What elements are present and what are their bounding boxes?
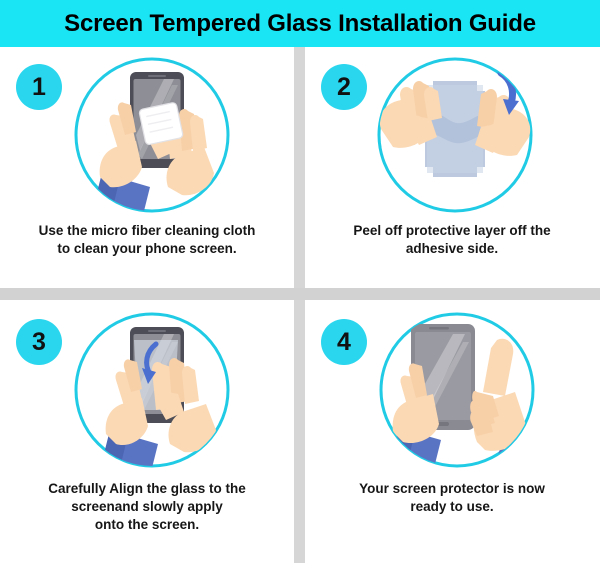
step-caption-2: Peel off protective layer off the adhesi… <box>315 222 589 258</box>
step-caption-1: Use the micro fiber cleaning cloth to cl… <box>10 222 284 258</box>
step-number-label: 1 <box>32 75 46 100</box>
step-number-badge-2: 2 <box>321 64 367 110</box>
step-number-label: 3 <box>32 330 46 355</box>
step-panel-2: 2 <box>305 47 599 288</box>
page-title: Screen Tempered Glass Installation Guide <box>64 10 536 38</box>
step-caption-3: Carefully Align the glass to the screena… <box>10 480 284 535</box>
hand-holding-phone-with-cloth-icon <box>72 55 232 215</box>
step-panel-1: 1 <box>0 47 294 288</box>
caption-line: Your screen protector is now <box>315 480 589 498</box>
step-caption-4: Your screen protector is now ready to us… <box>315 480 589 516</box>
step-number-label: 4 <box>337 330 351 355</box>
caption-line: Use the micro fiber cleaning cloth <box>10 222 284 240</box>
step-number-badge-3: 3 <box>16 319 62 365</box>
step-panel-3: 3 <box>0 300 294 563</box>
vertical-divider <box>294 47 305 563</box>
caption-line: to clean your phone screen. <box>10 240 284 258</box>
hands-peeling-film-icon <box>375 55 535 215</box>
caption-line: Peel off protective layer off the <box>315 222 589 240</box>
caption-line: adhesive side. <box>315 240 589 258</box>
installation-guide-infographic: Screen Tempered Glass Installation Guide… <box>0 0 600 563</box>
caption-line: onto the screen. <box>10 516 284 534</box>
step-number-badge-4: 4 <box>321 319 367 365</box>
horizontal-divider <box>0 288 600 300</box>
caption-line: ready to use. <box>315 498 589 516</box>
step-number-badge-1: 1 <box>16 64 62 110</box>
hand-aligning-glass-on-phone-icon <box>72 310 232 470</box>
steps-grid: 1 <box>0 47 600 563</box>
header-banner: Screen Tempered Glass Installation Guide <box>0 0 600 47</box>
caption-line: Carefully Align the glass to the <box>10 480 284 498</box>
hand-holding-phone-thumbs-up-icon <box>377 310 537 470</box>
step-number-label: 2 <box>337 75 351 100</box>
step-panel-4: 4 <box>305 300 599 563</box>
caption-line: screenand slowly apply <box>10 498 284 516</box>
